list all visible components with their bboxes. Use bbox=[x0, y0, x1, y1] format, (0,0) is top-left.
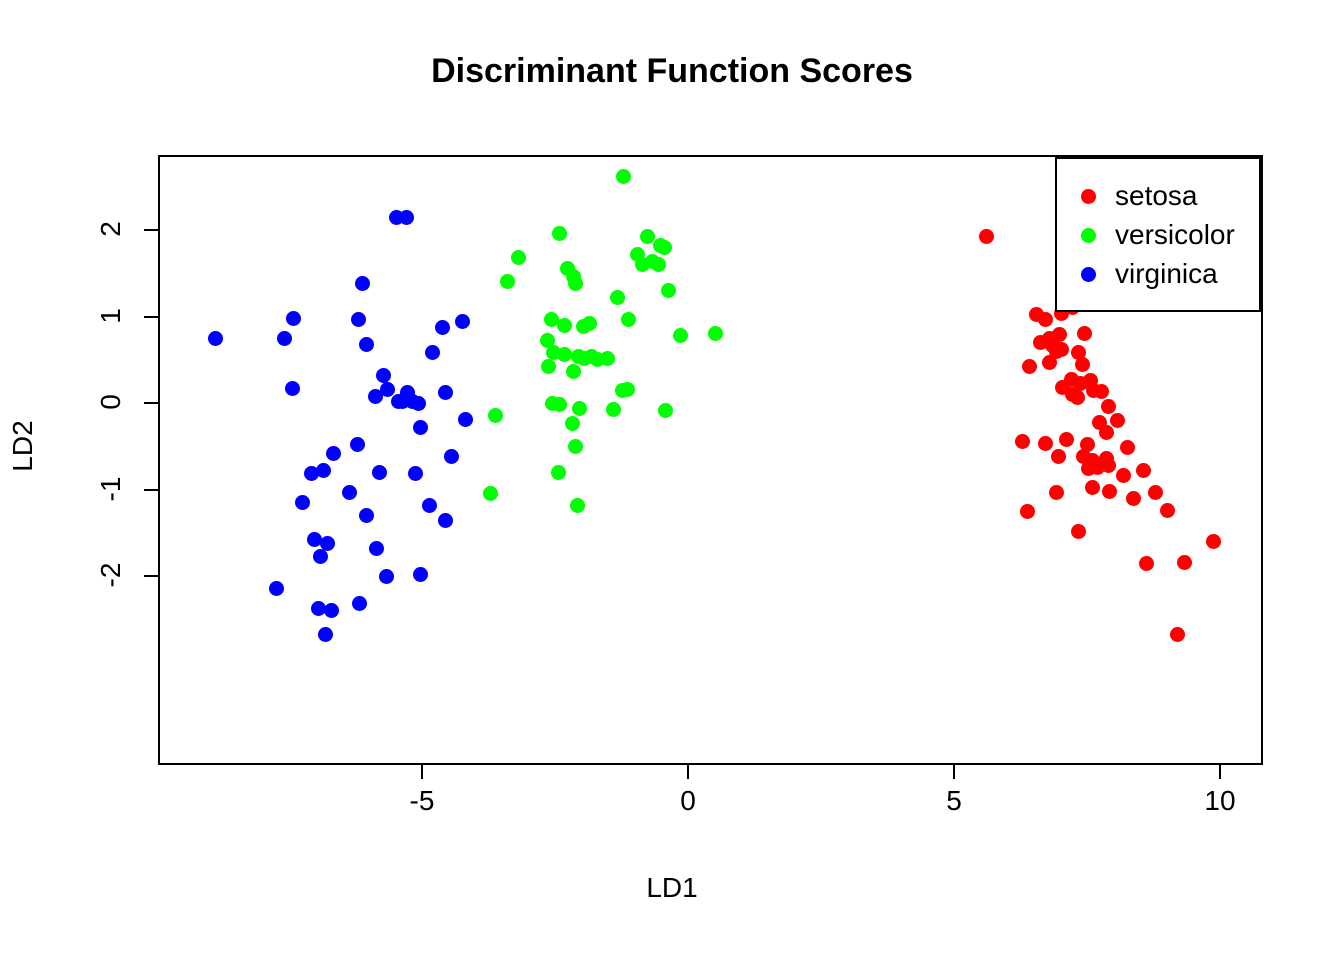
legend-marker-icon bbox=[1081, 189, 1096, 204]
scatter-point-virginica bbox=[422, 498, 437, 513]
x-tick-label: 5 bbox=[914, 785, 994, 817]
y-axis-title: LD2 bbox=[7, 401, 39, 491]
scatter-point-versicolor bbox=[610, 290, 625, 305]
scatter-point-virginica bbox=[351, 312, 366, 327]
scatter-point-setosa bbox=[1049, 485, 1064, 500]
scatter-point-setosa bbox=[1071, 524, 1086, 539]
scatter-point-virginica bbox=[277, 331, 292, 346]
scatter-point-setosa bbox=[1139, 556, 1154, 571]
y-tick-label: -2 bbox=[95, 552, 127, 598]
scatter-point-setosa bbox=[1099, 425, 1114, 440]
scatter-point-versicolor bbox=[673, 328, 688, 343]
scatter-point-virginica bbox=[458, 412, 473, 427]
x-tick-label: 0 bbox=[648, 785, 728, 817]
scatter-point-virginica bbox=[359, 508, 374, 523]
y-tick-mark bbox=[144, 229, 158, 231]
scatter-point-virginica bbox=[413, 567, 428, 582]
scatter-point-setosa bbox=[1022, 359, 1037, 374]
scatter-point-versicolor bbox=[661, 283, 676, 298]
legend-item-versicolor: versicolor bbox=[1057, 215, 1263, 255]
x-tick-mark bbox=[953, 765, 955, 779]
scatter-point-virginica bbox=[435, 320, 450, 335]
x-tick-mark bbox=[421, 765, 423, 779]
scatter-point-versicolor bbox=[557, 347, 572, 362]
scatter-point-versicolor bbox=[572, 401, 587, 416]
legend: setosaversicolorvirginica bbox=[1055, 157, 1261, 312]
chart-page: Discriminant Function Scores LD1 LD2 set… bbox=[0, 0, 1344, 960]
scatter-point-setosa bbox=[1051, 449, 1066, 464]
legend-marker-icon bbox=[1081, 267, 1096, 282]
scatter-point-versicolor bbox=[658, 403, 673, 418]
scatter-point-virginica bbox=[376, 368, 391, 383]
scatter-point-setosa bbox=[1110, 413, 1125, 428]
x-tick-label: -5 bbox=[382, 785, 462, 817]
scatter-point-virginica bbox=[320, 536, 335, 551]
scatter-point-virginica bbox=[379, 569, 394, 584]
scatter-point-virginica bbox=[318, 627, 333, 642]
scatter-point-versicolor bbox=[557, 318, 572, 333]
scatter-point-setosa bbox=[1126, 491, 1141, 506]
y-tick-mark bbox=[144, 316, 158, 318]
scatter-point-versicolor bbox=[620, 382, 635, 397]
scatter-point-setosa bbox=[1020, 504, 1035, 519]
scatter-point-virginica bbox=[438, 385, 453, 400]
scatter-point-versicolor bbox=[570, 498, 585, 513]
scatter-point-virginica bbox=[359, 337, 374, 352]
scatter-point-setosa bbox=[1206, 534, 1221, 549]
x-tick-mark bbox=[687, 765, 689, 779]
scatter-point-setosa bbox=[1054, 342, 1069, 357]
scatter-point-setosa bbox=[1085, 480, 1100, 495]
scatter-point-versicolor bbox=[600, 351, 615, 366]
scatter-point-versicolor bbox=[568, 439, 583, 454]
y-tick-label: 0 bbox=[95, 379, 127, 425]
scatter-point-virginica bbox=[369, 541, 384, 556]
scatter-point-setosa bbox=[1148, 485, 1163, 500]
scatter-point-setosa bbox=[1101, 458, 1116, 473]
legend-item-setosa: setosa bbox=[1057, 176, 1263, 216]
scatter-point-virginica bbox=[438, 513, 453, 528]
scatter-point-setosa bbox=[1101, 399, 1116, 414]
y-tick-label: 2 bbox=[95, 206, 127, 252]
scatter-point-setosa bbox=[1059, 432, 1074, 447]
scatter-point-virginica bbox=[455, 314, 470, 329]
scatter-point-versicolor bbox=[541, 359, 556, 374]
scatter-point-setosa bbox=[1116, 468, 1131, 483]
scatter-point-versicolor bbox=[657, 240, 672, 255]
legend-item-label: setosa bbox=[1115, 180, 1198, 212]
y-tick-mark bbox=[144, 402, 158, 404]
legend-marker-icon bbox=[1081, 228, 1096, 243]
scatter-point-virginica bbox=[313, 549, 328, 564]
scatter-point-virginica bbox=[295, 495, 310, 510]
legend-item-virginica: virginica bbox=[1057, 254, 1263, 294]
scatter-point-virginica bbox=[399, 210, 414, 225]
y-tick-label: -1 bbox=[95, 466, 127, 512]
scatter-point-versicolor bbox=[708, 326, 723, 341]
scatter-point-virginica bbox=[342, 485, 357, 500]
scatter-point-setosa bbox=[1160, 503, 1175, 518]
scatter-point-setosa bbox=[1136, 463, 1151, 478]
x-tick-label: 10 bbox=[1180, 785, 1260, 817]
scatter-point-virginica bbox=[269, 581, 284, 596]
scatter-point-virginica bbox=[326, 446, 341, 461]
scatter-point-virginica bbox=[208, 331, 223, 346]
scatter-point-virginica bbox=[411, 396, 426, 411]
scatter-point-setosa bbox=[1038, 436, 1053, 451]
scatter-point-virginica bbox=[372, 465, 387, 480]
scatter-point-virginica bbox=[286, 311, 301, 326]
scatter-point-versicolor bbox=[483, 486, 498, 501]
legend-item-label: virginica bbox=[1115, 258, 1218, 290]
y-tick-mark bbox=[144, 489, 158, 491]
scatter-point-virginica bbox=[408, 466, 423, 481]
x-axis-title: LD1 bbox=[0, 872, 1344, 904]
scatter-point-virginica bbox=[324, 603, 339, 618]
scatter-point-virginica bbox=[316, 463, 331, 478]
x-tick-mark bbox=[1219, 765, 1221, 779]
scatter-point-setosa bbox=[1102, 484, 1117, 499]
scatter-point-setosa bbox=[1170, 627, 1185, 642]
scatter-point-versicolor bbox=[511, 250, 526, 265]
legend-item-label: versicolor bbox=[1115, 219, 1235, 251]
scatter-point-virginica bbox=[355, 276, 370, 291]
page-title: Discriminant Function Scores bbox=[0, 52, 1344, 91]
scatter-point-virginica bbox=[350, 437, 365, 452]
scatter-point-virginica bbox=[444, 449, 459, 464]
scatter-point-setosa bbox=[1015, 434, 1030, 449]
scatter-point-setosa bbox=[1070, 390, 1085, 405]
scatter-point-versicolor bbox=[566, 364, 581, 379]
scatter-point-virginica bbox=[352, 596, 367, 611]
scatter-point-setosa bbox=[1177, 555, 1192, 570]
scatter-point-versicolor bbox=[621, 312, 636, 327]
scatter-point-setosa bbox=[1077, 326, 1092, 341]
scatter-point-versicolor bbox=[606, 402, 621, 417]
scatter-point-versicolor bbox=[635, 257, 650, 272]
scatter-point-setosa bbox=[979, 229, 994, 244]
scatter-point-setosa bbox=[1075, 357, 1090, 372]
scatter-point-versicolor bbox=[582, 316, 597, 331]
scatter-point-setosa bbox=[1094, 384, 1109, 399]
scatter-point-virginica bbox=[413, 420, 428, 435]
scatter-point-versicolor bbox=[500, 274, 515, 289]
scatter-point-versicolor bbox=[616, 169, 631, 184]
scatter-point-setosa bbox=[1120, 440, 1135, 455]
scatter-point-versicolor bbox=[551, 465, 566, 480]
scatter-point-versicolor bbox=[651, 257, 666, 272]
scatter-point-setosa bbox=[1038, 312, 1053, 327]
y-tick-mark bbox=[144, 575, 158, 577]
scatter-point-virginica bbox=[425, 345, 440, 360]
scatter-point-setosa bbox=[1042, 355, 1057, 370]
scatter-point-versicolor bbox=[488, 408, 503, 423]
scatter-point-versicolor bbox=[552, 226, 567, 241]
scatter-point-versicolor bbox=[568, 276, 583, 291]
scatter-point-virginica bbox=[285, 381, 300, 396]
scatter-point-versicolor bbox=[565, 416, 580, 431]
y-tick-label: 1 bbox=[95, 293, 127, 339]
scatter-point-versicolor bbox=[552, 397, 567, 412]
